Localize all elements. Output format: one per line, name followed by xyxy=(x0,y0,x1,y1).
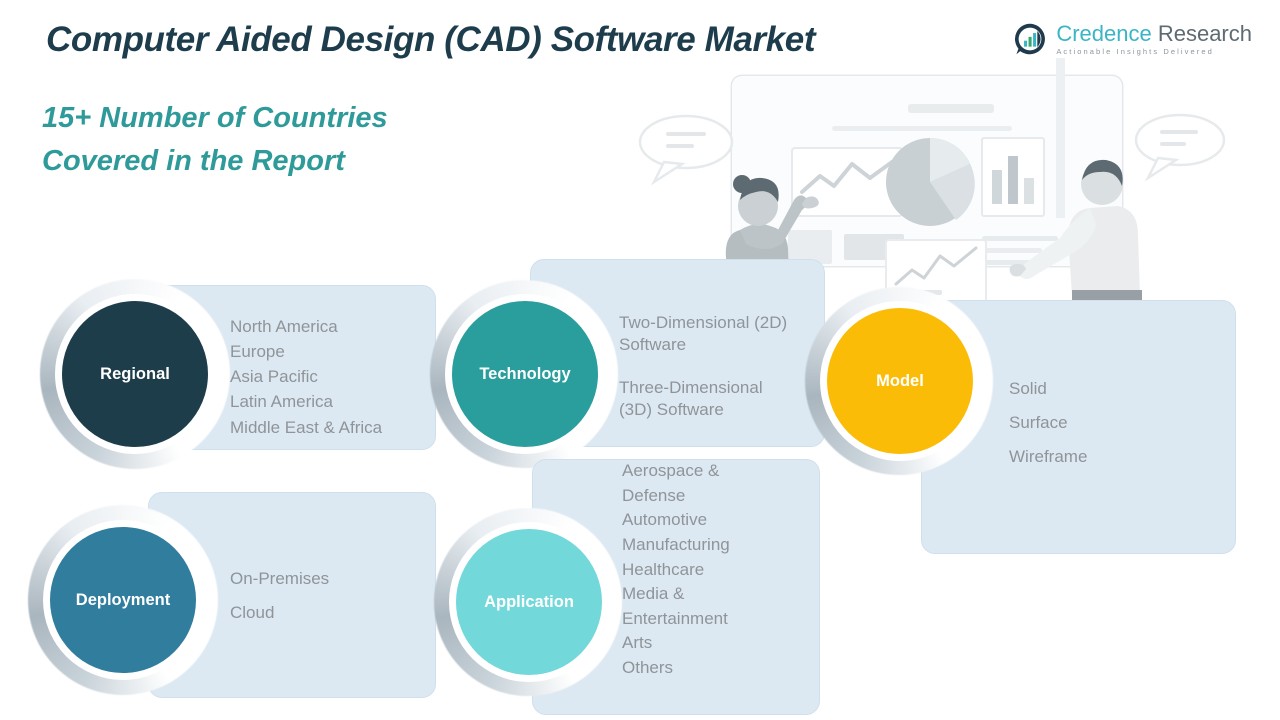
segment-label-application: Application xyxy=(484,593,574,612)
speech-bubble-left xyxy=(640,116,732,182)
segment-label-deployment: Deployment xyxy=(76,591,170,610)
segment-items-application: Aerospace & Defense Automotive Manufactu… xyxy=(622,459,822,681)
segment-items-model: Solid Surface Wireframe xyxy=(1009,380,1219,465)
infographic-canvas: Computer Aided Design (CAD) Software Mar… xyxy=(0,0,1280,720)
segment-label-technology: Technology xyxy=(479,365,570,384)
logo-name-primary: Credence xyxy=(1056,21,1151,46)
page-subtitle: 15+ Number of Countries Covered in the R… xyxy=(42,97,388,183)
logo-name-secondary: Research xyxy=(1152,21,1252,46)
segment-bubble-application[interactable]: Application xyxy=(456,529,602,675)
segment-items-regional: North America Europe Asia Pacific Latin … xyxy=(230,314,435,440)
credence-bar-chart-bubble-icon xyxy=(1013,22,1047,56)
segment-items-technology: Two-Dimensional (2D) Software Three-Dime… xyxy=(619,312,825,421)
segment-label-model: Model xyxy=(876,372,924,391)
speech-bubble-right xyxy=(1136,115,1224,178)
logo-title: Credence Research xyxy=(1056,23,1252,45)
segment-bubble-model[interactable]: Model xyxy=(827,308,973,454)
segment-label-regional: Regional xyxy=(100,365,170,384)
segment-bubble-regional[interactable]: Regional xyxy=(62,301,208,447)
logo-tagline: Actionable Insights Delivered xyxy=(1056,48,1252,56)
segment-bubble-deployment[interactable]: Deployment xyxy=(50,527,196,673)
brand-logo[interactable]: Credence Research Actionable Insights De… xyxy=(1013,22,1252,56)
segment-bubble-technology[interactable]: Technology xyxy=(452,301,598,447)
segment-items-deployment: On-Premises Cloud xyxy=(230,570,435,621)
page-title: Computer Aided Design (CAD) Software Mar… xyxy=(46,20,815,60)
